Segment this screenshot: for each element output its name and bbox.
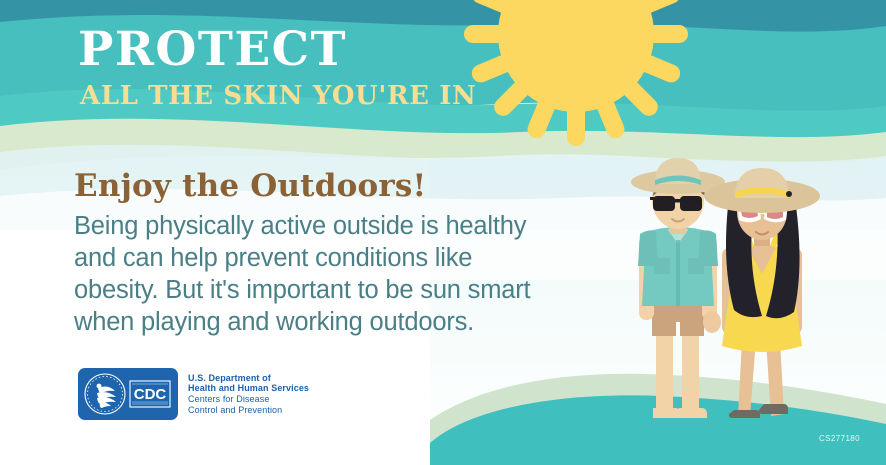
publication-code: CS277180 xyxy=(819,434,860,443)
cdc-badge-text: CDC xyxy=(134,386,167,403)
body-block: Enjoy the Outdoors! Being physically act… xyxy=(74,168,544,338)
agency-line-1: U.S. Department of xyxy=(188,373,309,384)
agency-line-4: Control and Prevention xyxy=(188,405,309,416)
hhs-seal-and-cdc-mark: CDC xyxy=(78,368,178,420)
headline-block: PROTECT ALL THE SKIN YOU'RE IN xyxy=(78,24,498,112)
agency-text: U.S. Department of Health and Human Serv… xyxy=(188,373,309,415)
cdc-logo: CDC U.S. Department of Health and Human … xyxy=(78,368,309,420)
lead-heading: Enjoy the Outdoors! xyxy=(74,168,544,204)
body-line-1: Being physically active outside is healt… xyxy=(74,210,544,242)
headline-primary: PROTECT xyxy=(78,24,498,76)
agency-line-2: Health and Human Services xyxy=(188,383,309,394)
body-line-2: and can help prevent conditions like xyxy=(74,242,544,274)
body-line-4: when playing and working outdoors. xyxy=(74,306,544,338)
woman-sandals xyxy=(729,404,788,418)
woman-figure xyxy=(704,168,820,418)
held-hands xyxy=(703,311,721,333)
cdc-badge: CDC xyxy=(78,368,178,420)
headline-secondary: ALL THE SKIN YOU'RE IN xyxy=(80,80,498,112)
agency-line-3: Centers for Disease xyxy=(188,394,309,405)
poster-canvas: PROTECT ALL THE SKIN YOU'RE IN Enjoy the… xyxy=(0,0,886,465)
body-line-3: obesity. But it's important to be sun sm… xyxy=(74,274,544,306)
hhs-eagle-icon xyxy=(97,384,116,408)
woman-hat xyxy=(704,168,820,213)
